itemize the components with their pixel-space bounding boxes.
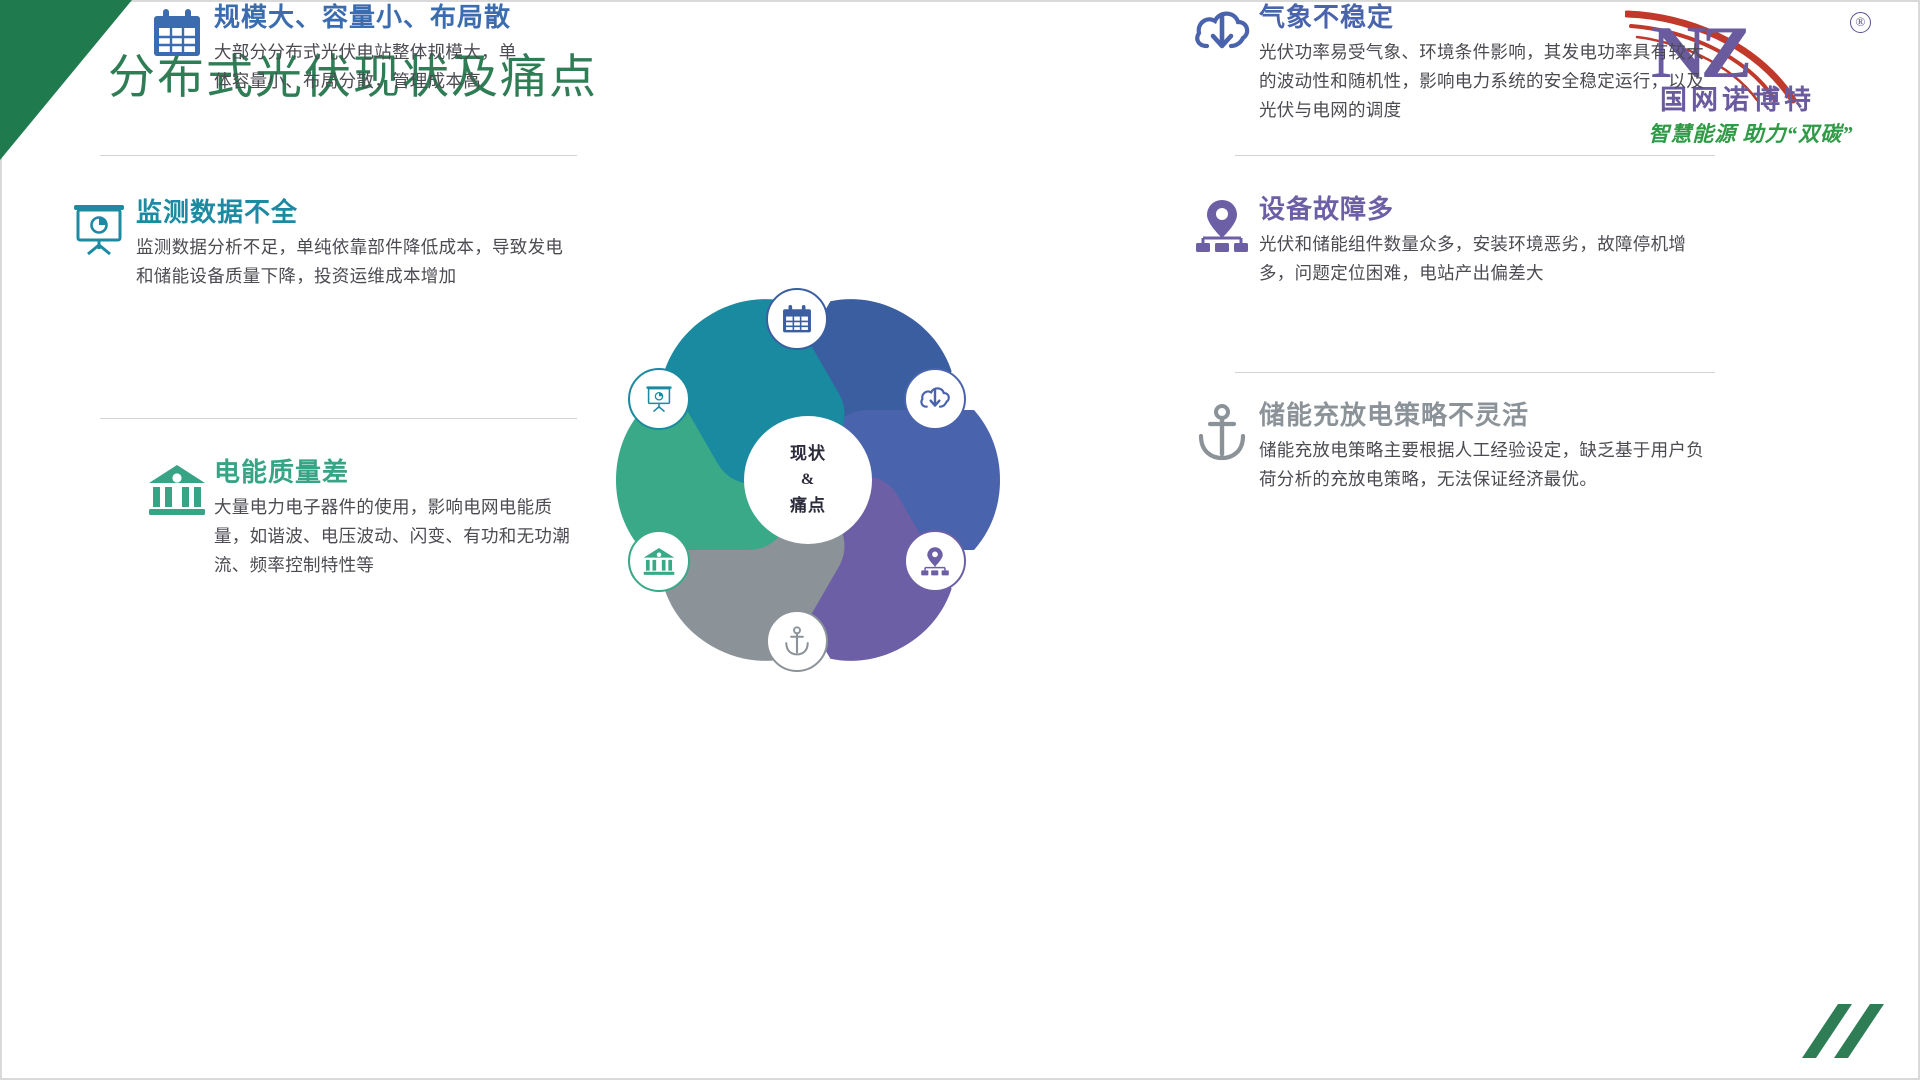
footer-corner-stripes <box>1794 992 1890 1058</box>
list-item-description: 监测数据分析不足，单纯依靠部件降低成本，导致发电和储能设备质量下降，投资运维成本… <box>136 233 568 291</box>
list-item-title: 电能质量差 <box>214 455 584 489</box>
list-item-description: 大部分分布式光伏电站整体规模大，单体容量小、布局分散，管理成本高 <box>214 38 532 96</box>
list-item-body: 规模大、容量小、布局散 大部分分布式光伏电站整体规模大，单体容量小、布局分散，管… <box>214 0 577 96</box>
bank-icon <box>140 455 214 580</box>
calendar-icon <box>140 0 214 96</box>
list-item-body: 储能充放电策略不灵活 储能充放电策略主要根据人工经验设定，缺乏基于用户负荷分析的… <box>1259 398 1715 494</box>
wheel-hub-amp: & <box>790 467 826 493</box>
hexagon-wheel-diagram: 现状 & 痛点 <box>596 268 1020 692</box>
list-item: 储能充放电策略不灵活 储能充放电策略主要根据人工经验设定，缺乏基于用户负荷分析的… <box>1185 398 1715 494</box>
wheel-hub-line1: 现状 <box>790 441 826 467</box>
org-chart-icon <box>919 545 951 577</box>
list-item: 规模大、容量小、布局散 大部分分布式光伏电站整体规模大，单体容量小、布局分散，管… <box>140 0 577 96</box>
wheel-badge-scale <box>766 288 828 350</box>
anchor-icon <box>782 625 812 657</box>
divider <box>100 418 577 419</box>
list-item-description: 光伏和储能组件数量众多，安装环境恶劣，故障停机增多，问题定位困难，电站产出偏差大 <box>1259 230 1704 288</box>
wheel-badge-faults <box>904 530 966 592</box>
list-item-title: 气象不稳定 <box>1259 0 1715 34</box>
org-chart-icon <box>1185 192 1259 288</box>
list-item-body: 气象不稳定 光伏功率易受气象、环境条件影响，其发电功率具有较大的波动性和随机性，… <box>1259 0 1715 125</box>
list-item-body: 电能质量差 大量电力电子器件的使用，影响电网电能质量，如谐波、电压波动、闪变、有… <box>214 455 584 580</box>
presentation-icon <box>642 383 676 415</box>
wheel-badge-weather <box>904 368 966 430</box>
cloud-download-icon <box>918 383 952 415</box>
cloud-download-icon <box>1185 0 1259 125</box>
list-item: 电能质量差 大量电力电子器件的使用，影响电网电能质量，如谐波、电压波动、闪变、有… <box>140 455 577 580</box>
divider <box>100 155 577 156</box>
list-item-description: 储能充放电策略主要根据人工经验设定，缺乏基于用户负荷分析的充放电策略，无法保证经… <box>1259 436 1709 494</box>
wheel-badge-monitoring <box>628 368 690 430</box>
list-item: 设备故障多 光伏和储能组件数量众多，安装环境恶劣，故障停机增多，问题定位困难，电… <box>1185 192 1715 288</box>
divider <box>1235 372 1715 373</box>
wheel-badge-power <box>628 530 690 592</box>
calendar-icon <box>780 302 814 336</box>
registered-trademark-icon: ® <box>1850 12 1871 33</box>
wheel-badge-storage <box>766 610 828 672</box>
list-item-description: 光伏功率易受气象、环境条件影响，其发电功率具有较大的波动性和随机性，影响电力系统… <box>1259 38 1714 125</box>
list-item-title: 设备故障多 <box>1259 192 1715 226</box>
wheel-hub-label: 现状 & 痛点 <box>790 441 826 519</box>
list-item-title: 储能充放电策略不灵活 <box>1259 398 1715 432</box>
list-item-body: 设备故障多 光伏和储能组件数量众多，安装环境恶劣，故障停机增多，问题定位困难，电… <box>1259 192 1715 288</box>
bank-icon <box>642 545 676 577</box>
wheel-hub-line2: 痛点 <box>790 493 826 519</box>
list-item-title: 规模大、容量小、布局散 <box>214 0 577 34</box>
list-item: 监测数据不全 监测数据分析不足，单纯依靠部件降低成本，导致发电和储能设备质量下降… <box>62 195 577 291</box>
list-item: 气象不稳定 光伏功率易受气象、环境条件影响，其发电功率具有较大的波动性和随机性，… <box>1185 0 1715 125</box>
list-item-title: 监测数据不全 <box>136 195 577 229</box>
divider <box>1235 155 1715 156</box>
anchor-icon <box>1185 398 1259 494</box>
list-item-body: 监测数据不全 监测数据分析不足，单纯依靠部件降低成本，导致发电和储能设备质量下降… <box>136 195 577 291</box>
list-item-description: 大量电力电子器件的使用，影响电网电能质量，如谐波、电压波动、闪变、有功和无功潮流… <box>214 493 584 580</box>
presentation-icon <box>62 195 136 291</box>
